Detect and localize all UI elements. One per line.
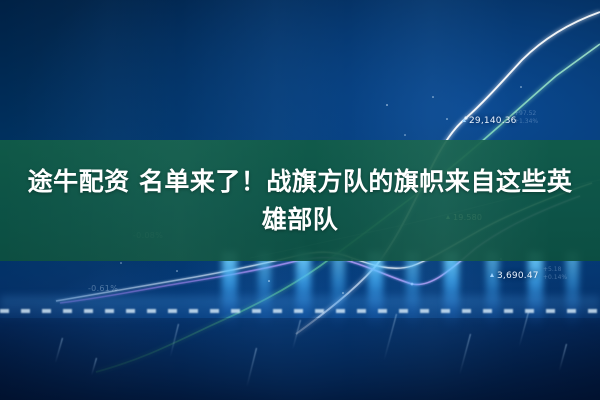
chart-micro-low-2: +0.14% [543,274,567,282]
streak-group [0,318,600,400]
headline-line-2: 雄部队 [262,202,339,238]
chart-micro-right-1: +97.52 [514,110,536,118]
marker-triangle-icon [490,273,494,277]
chart-pct-blue: -0.61% [88,284,118,293]
chart-micro-right-2: +1.34% [514,118,538,126]
floor-dashed-line [0,309,600,313]
chart-label-29140: 29,140.36 [462,116,517,126]
chart-micro-low-1: +5.18 [543,266,561,274]
marker-triangle-icon [462,118,466,122]
headline-line-1: 途牛配资 名单来了！战旗方队的旗帜来自这些英 [28,164,573,200]
banner-headline: 途牛配资 名单来了！战旗方队的旗帜来自这些英 雄部队 [0,140,600,261]
promo-banner-image: 29,140.36 19.580 3,690.47 -0.08% -0.61% … [0,0,600,400]
chart-label-3690: 3,690.47 [490,271,539,281]
